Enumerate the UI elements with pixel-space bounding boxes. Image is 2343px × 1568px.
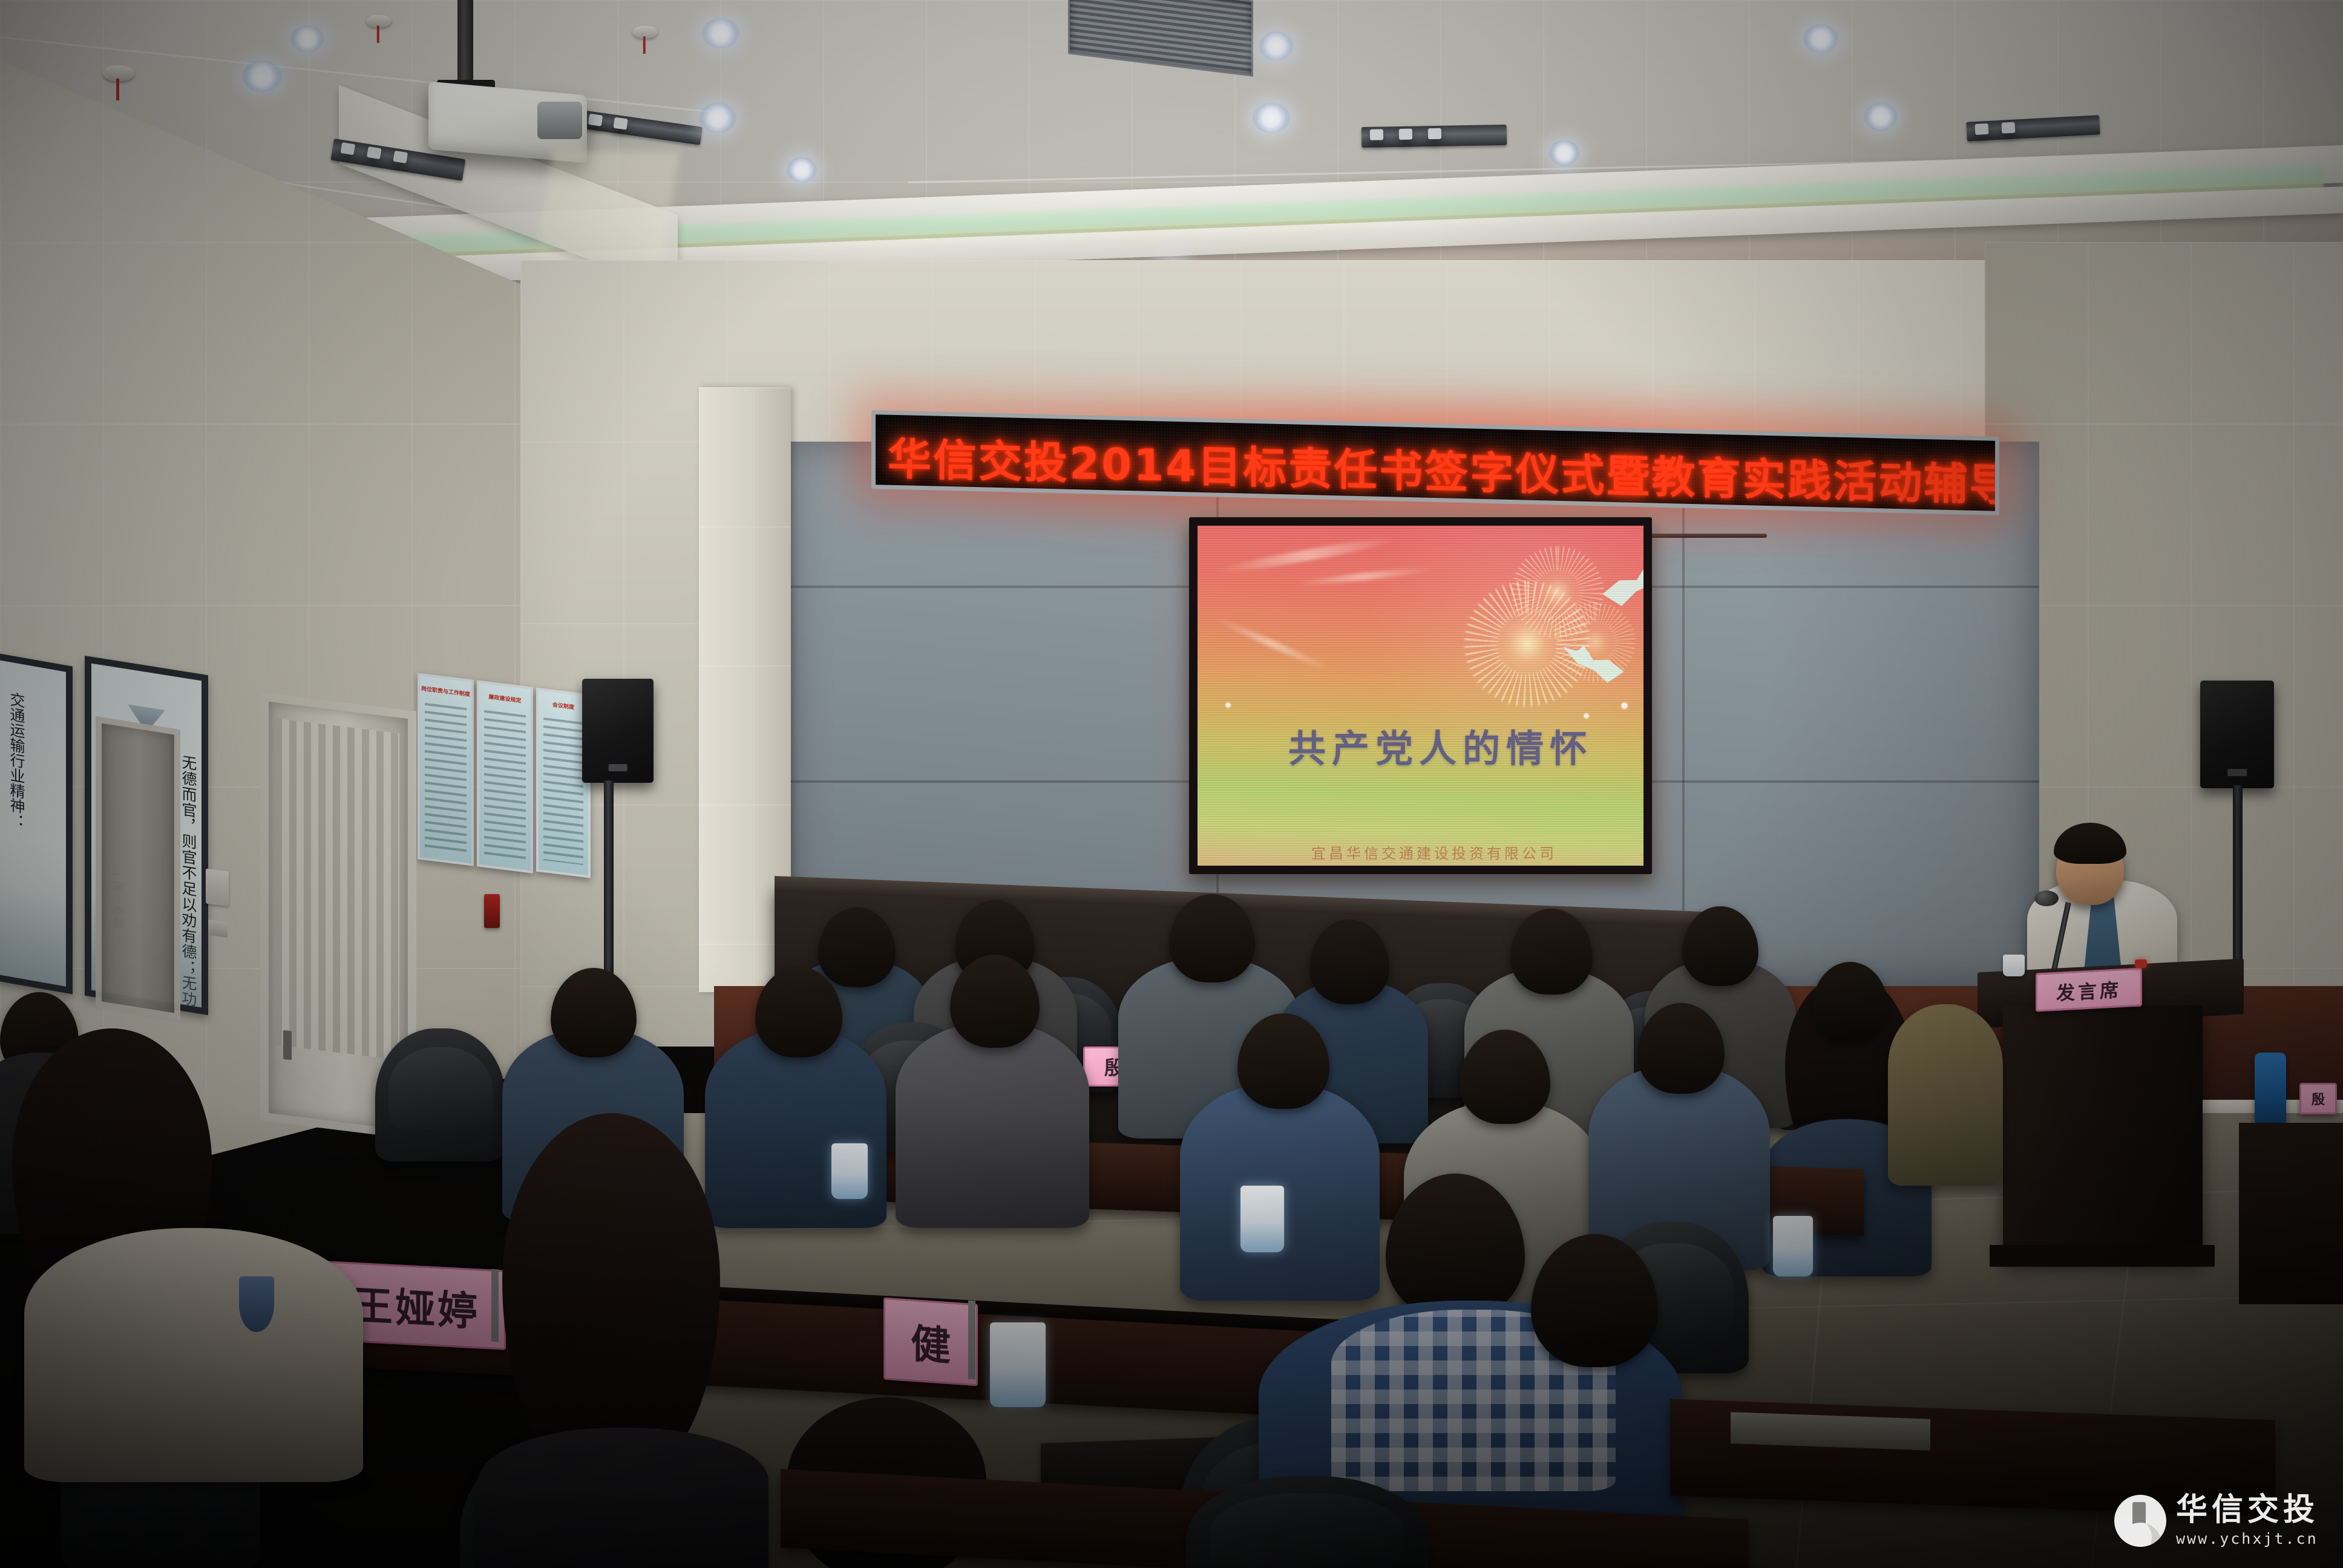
speaker-left bbox=[582, 679, 654, 783]
water-dispenser-bottle bbox=[2255, 1053, 2286, 1124]
projection-screen: 共产党人的情怀 宜昌华信交通建设投资有限公司 bbox=[1189, 517, 1652, 874]
audience-person-body bbox=[478, 1428, 768, 1568]
paper-cup bbox=[990, 1322, 1046, 1407]
side-door bbox=[96, 716, 180, 1020]
notice-board-body bbox=[425, 703, 467, 853]
watermark-company-name: 华信交投 bbox=[2176, 1494, 2319, 1526]
watermark: 华信交投 www.ychxjt.cn bbox=[2114, 1494, 2319, 1547]
poster-industry-spirit-text: 交通运输行业精神： bbox=[8, 691, 25, 830]
door-handle bbox=[283, 1030, 292, 1060]
ceiling-spotlight bbox=[1259, 31, 1294, 60]
podium bbox=[2003, 1005, 2203, 1258]
company-logo-icon bbox=[2114, 1495, 2166, 1547]
nameplate-stand bbox=[491, 1269, 499, 1342]
ceiling-spotlight bbox=[702, 18, 739, 48]
ceiling-spotlight bbox=[1864, 103, 1898, 131]
projector-lens bbox=[537, 102, 582, 139]
notice-board-body bbox=[543, 717, 583, 865]
notice-board: 岗位职责与工作制度 bbox=[418, 673, 474, 866]
track-light-rail bbox=[1362, 125, 1507, 148]
paper-cup bbox=[831, 1143, 868, 1199]
fire-alarm-box bbox=[484, 894, 500, 928]
nameplate-stand bbox=[968, 1301, 975, 1380]
audience-person-hair-long bbox=[502, 1113, 720, 1476]
nameplate-text: 殷 bbox=[2312, 1089, 2325, 1108]
notice-board-heading: 会议制度 bbox=[539, 699, 588, 713]
screen-scanlines bbox=[1198, 526, 1643, 866]
podium-microphone-head bbox=[2034, 890, 2059, 906]
projection-screen-surface: 共产党人的情怀 宜昌华信交通建设投资有限公司 bbox=[1198, 526, 1643, 866]
desk-nameplate: 健 bbox=[883, 1298, 978, 1387]
audience-person-body bbox=[1888, 1004, 2003, 1186]
ceiling-spotlight bbox=[699, 103, 736, 133]
podium-nameplate: 发言席 bbox=[2036, 967, 2142, 1011]
audience-chair bbox=[375, 1028, 505, 1161]
paper-cup bbox=[1773, 1216, 1813, 1276]
smoke-detector bbox=[366, 15, 392, 28]
podium-water-cup bbox=[2003, 955, 2025, 976]
ceiling-spotlight bbox=[1549, 140, 1579, 166]
notice-board-heading: 岗位职责与工作制度 bbox=[420, 684, 471, 698]
podium-nameplate-text: 发言席 bbox=[2056, 975, 2122, 1005]
speaker-right bbox=[2200, 681, 2274, 788]
uniform-shoulder-patch bbox=[239, 1276, 274, 1332]
ceiling-spotlight bbox=[290, 25, 324, 52]
conference-hall-photo: 华信交投2014目标责任书签字仪式暨教育实践活动辅导党课 共产党人的情怀 宜昌华… bbox=[0, 0, 2343, 1568]
ceiling-spotlight bbox=[787, 157, 817, 183]
ceiling-spotlight bbox=[1253, 103, 1290, 133]
smoke-detector bbox=[632, 26, 658, 39]
ceiling-spotlight bbox=[242, 60, 282, 92]
audience-person-body bbox=[24, 1228, 363, 1482]
paper-cup bbox=[1240, 1186, 1284, 1252]
audience-person-body bbox=[896, 1022, 1089, 1228]
notice-board-heading: 廉政建设规定 bbox=[479, 691, 531, 705]
desk-nameplate-text: 健 bbox=[911, 1312, 951, 1373]
water-dispenser-cabinet bbox=[2239, 1123, 2343, 1304]
podium-base bbox=[1990, 1245, 2215, 1267]
smoke-detector bbox=[103, 65, 134, 81]
wall-socket bbox=[208, 920, 228, 938]
ceiling-spotlight bbox=[1803, 24, 1838, 53]
nameplate-on-dispenser: 殷 bbox=[2299, 1083, 2337, 1114]
poster-industry-spirit: 交通运输行业精神： bbox=[0, 652, 73, 994]
projector-mount-pole bbox=[457, 0, 473, 86]
light-switch bbox=[206, 869, 229, 907]
speaker-stand-pole-left bbox=[604, 780, 614, 986]
watermark-url: www.ychxjt.cn bbox=[2176, 1530, 2319, 1547]
podium-indicator-light bbox=[2135, 959, 2147, 968]
notice-board: 廉政建设规定 bbox=[477, 680, 533, 873]
notice-board-body bbox=[484, 710, 526, 860]
desk-nameplate-text: 王娅婷 bbox=[353, 1273, 480, 1338]
door-louvre-panel bbox=[275, 718, 399, 1060]
